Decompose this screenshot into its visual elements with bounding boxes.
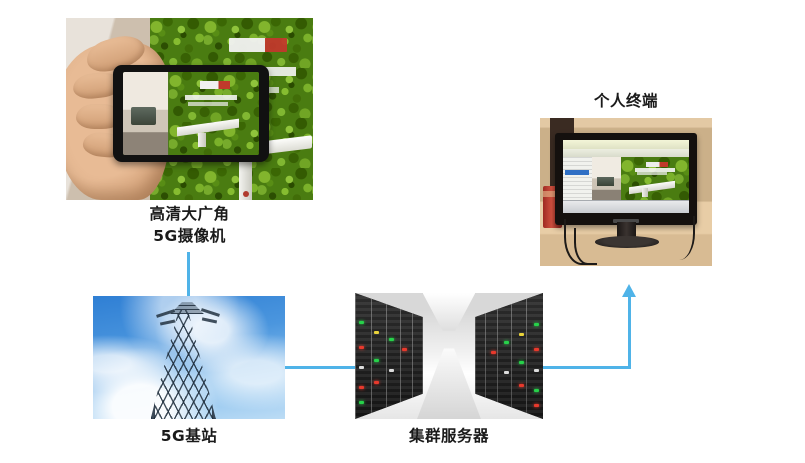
- pedestal-indicator-dot: [243, 191, 249, 197]
- server-rack: [371, 293, 387, 419]
- server-rack: [386, 293, 401, 419]
- rack-status-led: [504, 341, 509, 344]
- connector-servers-to-terminal-horizontal: [543, 366, 631, 369]
- app-sidebar: [563, 157, 593, 201]
- terminal-photo: [540, 118, 712, 266]
- connector-camera-to-base-station: [187, 252, 190, 296]
- video-office-area: [592, 157, 621, 201]
- base-station-caption: 5G基站: [93, 425, 285, 447]
- servers-photo: [355, 293, 543, 419]
- smartphone: [113, 65, 269, 161]
- video-pedestal-post: [642, 188, 648, 197]
- rack-status-led: [374, 359, 379, 362]
- server-rack: [526, 293, 543, 419]
- rack-status-led: [504, 371, 509, 374]
- monitor-screen: [563, 140, 688, 213]
- monitor: [555, 133, 696, 225]
- connector-base-station-to-servers: [285, 366, 355, 369]
- rack-status-led: [359, 346, 364, 349]
- base-station-photo: [93, 296, 285, 419]
- rack-status-led: [519, 333, 524, 336]
- screen-office-area: [123, 72, 168, 154]
- wall-logo-icon: [229, 38, 287, 52]
- rack-status-led: [534, 323, 539, 326]
- arrow-head-icon: [622, 284, 636, 297]
- rack-status-led: [359, 321, 364, 324]
- video-wall-logo-icon: [646, 162, 668, 167]
- server-rack: [355, 293, 372, 419]
- cable: [574, 228, 597, 266]
- rack-status-led: [389, 369, 394, 372]
- rack-status-led: [389, 338, 394, 341]
- rack-status-led: [534, 369, 539, 372]
- server-rack: [511, 293, 527, 419]
- rack-status-led: [359, 386, 364, 389]
- camera-caption: 高清大广角 5G摄像机: [66, 203, 313, 247]
- app-taskbar: [563, 200, 688, 213]
- connector-servers-to-terminal-vertical: [628, 296, 631, 368]
- rack-status-led: [359, 401, 364, 404]
- video-feed-panel: [592, 157, 688, 201]
- app-sidebar-selected-row: [565, 170, 590, 175]
- smartphone-screen: [123, 72, 259, 154]
- diagram-canvas: 高清大广角 5G摄像机 5G基站: [0, 0, 805, 463]
- rack-status-led: [519, 384, 524, 387]
- rack-status-led: [491, 351, 496, 354]
- screen-pedestal-post: [198, 133, 206, 148]
- server-rack: [497, 293, 512, 419]
- app-toolbar: [563, 149, 688, 157]
- screen-signage-line-1: [185, 95, 237, 100]
- rack-status-led: [374, 331, 379, 334]
- rack-status-led: [519, 361, 524, 364]
- terminal-caption: 个人终端: [540, 90, 712, 112]
- rack-status-led: [534, 389, 539, 392]
- rack-status-led: [374, 381, 379, 384]
- screen-wall-logo-icon: [200, 81, 230, 89]
- rack-status-led: [534, 404, 539, 407]
- screen-signage-line-2: [188, 102, 228, 106]
- camera-photo: [66, 18, 313, 200]
- video-signage-line-2: [637, 172, 667, 175]
- rack-status-led: [359, 366, 364, 369]
- servers-caption: 集群服务器: [355, 425, 543, 447]
